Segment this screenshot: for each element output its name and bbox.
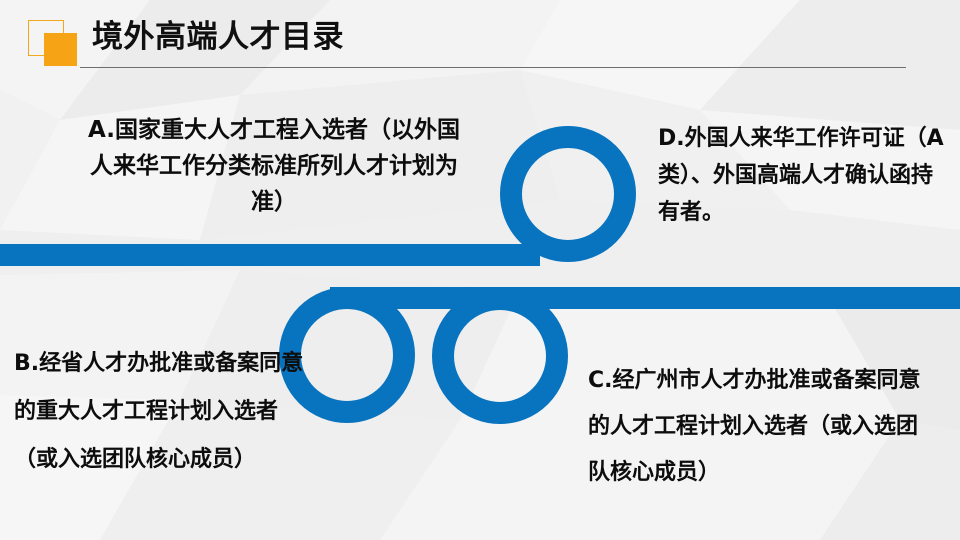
title-divider [80,67,906,68]
item-b-text: B.经省人才办批准或备案同意的重大人才工程计划入选者（或入选团队核心成员） [14,340,314,484]
slide-canvas: 境外高端人才目录 A.国家重大人才工程入选者（以外国人来华工作分类标准所列人才计… [0,0,960,540]
page-title: 境外高端人才目录 [92,17,344,57]
item-a-text: A.国家重大人才工程入选者（以外国人来华工作分类标准所列人才计划为准） [84,112,464,220]
ring-top [511,137,625,251]
ring-bottom-right [443,299,557,413]
filled-orange-square-icon [44,33,77,66]
item-c-text: C.经广州市人才办批准或备案同意的人才工程计划入选者（或入选团队核心成员） [588,358,928,496]
header: 境外高端人才目录 [0,0,960,80]
item-d-text: D.外国人来华工作许可证（A类）、外国高端人才确认函持有者。 [658,120,946,231]
